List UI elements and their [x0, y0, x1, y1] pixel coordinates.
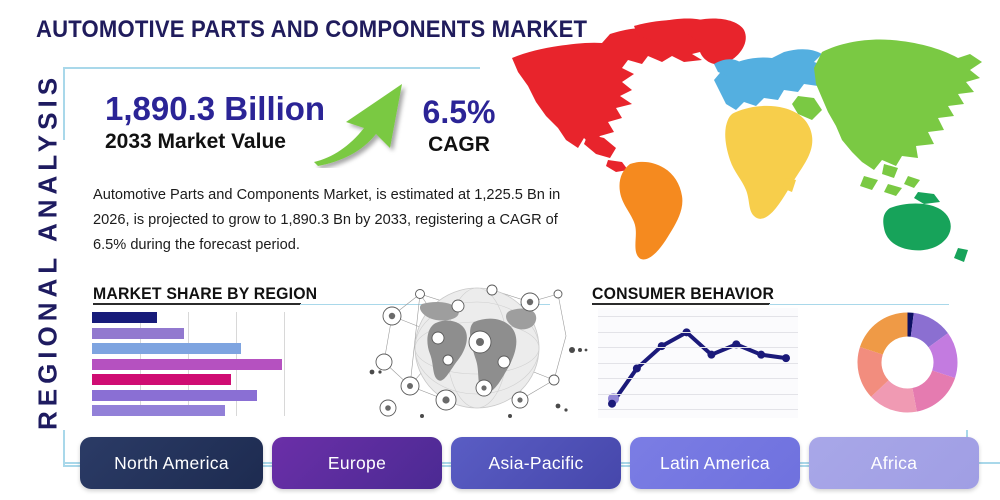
- line-point-8: [782, 354, 790, 362]
- section-title-consumer-behavior: CONSUMER BEHAVIOR: [592, 284, 774, 304]
- region-tab-label: North America: [114, 453, 229, 474]
- side-label-regional-analysis: REGIONAL ANALYSIS: [33, 52, 64, 452]
- bar-4: [92, 359, 282, 370]
- line-gridline: [598, 332, 798, 333]
- line-point-5: [707, 351, 715, 359]
- region-tabs: North AmericaEuropeAsia-PacificLatin Ame…: [80, 437, 960, 489]
- infographic-root: AUTOMOTIVE PARTS AND COMPONENTS MARKET R…: [0, 0, 1000, 500]
- tab-connector-tail: [979, 462, 1000, 464]
- cagr-label: CAGR: [404, 133, 514, 157]
- line-gridline: [598, 394, 798, 395]
- bar-6: [92, 390, 257, 401]
- donut-segment-7: [860, 313, 908, 355]
- line-point-2: [633, 364, 641, 372]
- tab-connector-head: [63, 462, 80, 464]
- line-gridline: [598, 347, 798, 348]
- section-rule-blue-consumer-behavior: [769, 304, 949, 305]
- line-gridline: [598, 378, 798, 379]
- region-tab-latin-america[interactable]: Latin America: [630, 437, 800, 489]
- bar-3: [92, 343, 241, 354]
- region-tab-label: Europe: [328, 453, 386, 474]
- line-gridline: [598, 409, 798, 410]
- bar-7: [92, 405, 225, 416]
- bar-5: [92, 374, 231, 385]
- region-tab-north-america[interactable]: North America: [80, 437, 263, 489]
- section-rule-market-share: [93, 303, 301, 305]
- region-tab-label: Africa: [871, 453, 918, 474]
- region-tab-africa[interactable]: Africa: [809, 437, 979, 489]
- line-gridline: [598, 316, 798, 317]
- region-tab-europe[interactable]: Europe: [272, 437, 442, 489]
- bar-1: [92, 312, 157, 323]
- section-rule-consumer-behavior: [592, 303, 770, 305]
- region-tab-asia-pacific[interactable]: Asia-Pacific: [451, 437, 621, 489]
- market-share-bar-chart: [92, 312, 288, 416]
- global-network-globe-icon: [362, 276, 592, 424]
- line-point-7: [757, 351, 765, 359]
- consumer-behavior-line-chart: [598, 308, 798, 418]
- tab-connector: [800, 462, 809, 464]
- tab-connector: [263, 462, 272, 464]
- tab-connector: [621, 462, 630, 464]
- line-point-1: [608, 400, 616, 408]
- section-title-market-share: MARKET SHARE BY REGION: [93, 284, 317, 304]
- segment-donut-chart: [855, 310, 960, 415]
- donut-segment-4: [912, 371, 955, 412]
- region-tab-label: Asia-Pacific: [488, 453, 583, 474]
- line-gridline: [598, 363, 798, 364]
- cagr-value: 6.5%: [404, 96, 514, 128]
- region-tab-label: Latin America: [660, 453, 770, 474]
- cagr-metric: 6.5% CAGR: [404, 96, 514, 157]
- bar-2: [92, 328, 184, 339]
- summary-paragraph: Automotive Parts and Components Market, …: [93, 183, 580, 258]
- growth-arrow-icon: [306, 78, 416, 168]
- tab-connector: [442, 462, 451, 464]
